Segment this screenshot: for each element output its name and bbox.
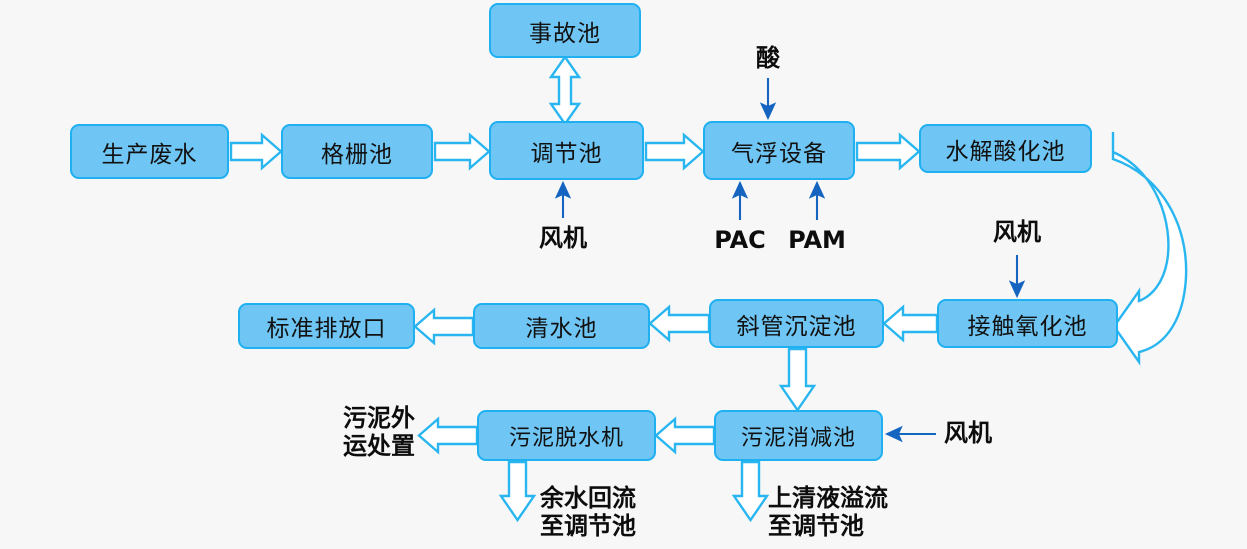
label-pac: PAC xyxy=(702,226,778,254)
label-blower-sludge-reduction: 风机 xyxy=(944,419,992,447)
node-contact-oxidation-tank[interactable]: 接触氧化池 xyxy=(937,299,1118,348)
label-residual-water-line2: 至调节池 xyxy=(540,512,636,540)
node-air-flotation-equipment[interactable]: 气浮设备 xyxy=(703,121,855,180)
edge-grille-to-regulating xyxy=(435,135,489,168)
label-acid: 酸 xyxy=(735,44,801,72)
label-blower-contact-oxidation: 风机 xyxy=(977,218,1057,246)
node-clean-water-tank[interactable]: 清水池 xyxy=(473,303,650,349)
edge-flotation-to-hydrolysis xyxy=(857,135,919,168)
node-production-wastewater[interactable]: 生产废水 xyxy=(70,124,229,179)
label-residual-water-line1: 余水回流 xyxy=(540,484,636,512)
label-sludge-offsite-line2: 运处置 xyxy=(300,432,415,460)
node-sludge-dewatering-machine[interactable]: 污泥脱水机 xyxy=(477,410,656,461)
label-sludge-offsite-line1: 污泥外 xyxy=(300,404,415,432)
label-supernatant-line1: 上清液溢流 xyxy=(768,484,888,512)
edge-production-to-grille xyxy=(231,135,281,168)
label-blower-regulating: 风机 xyxy=(523,224,603,252)
node-hydrolysis-acidification-tank[interactable]: 水解酸化池 xyxy=(919,124,1092,173)
label-residual-water-return: 余水回流 至调节池 xyxy=(540,484,636,541)
edge-accident-regulating-bidirectional xyxy=(551,57,579,124)
edge-contact-to-settling xyxy=(884,307,937,340)
edge-regulating-to-flotation xyxy=(646,135,703,168)
node-standard-discharge-outlet[interactable]: 标准排放口 xyxy=(238,303,415,349)
edge-cleanwater-to-outlet xyxy=(415,310,473,343)
edge-hydrolysis-to-contact-curve xyxy=(1113,132,1186,362)
label-sludge-offsite-disposal: 污泥外 运处置 xyxy=(300,404,415,461)
label-supernatant-line2: 至调节池 xyxy=(768,512,888,540)
connector-layer xyxy=(0,0,1247,549)
edge-settling-to-sludge-reduction xyxy=(781,349,814,410)
node-inclined-tube-settling-tank[interactable]: 斜管沉淀池 xyxy=(709,299,884,348)
node-grille-tank[interactable]: 格栅池 xyxy=(281,124,433,179)
node-accident-tank[interactable]: 事故池 xyxy=(489,3,641,58)
edge-settling-to-cleanwater xyxy=(650,307,709,340)
label-supernatant-overflow: 上清液溢流 至调节池 xyxy=(768,484,888,541)
node-regulating-tank[interactable]: 调节池 xyxy=(489,121,644,180)
edge-sludge-reduction-to-supernatant xyxy=(734,462,767,520)
edge-sludge-reduction-to-dewatering xyxy=(656,419,714,452)
process-flow-diagram: 生产废水 格栅池 事故池 调节池 气浮设备 水解酸化池 接触氧化池 斜管沉淀池 … xyxy=(0,0,1247,549)
node-sludge-reduction-tank[interactable]: 污泥消减池 xyxy=(714,410,883,461)
edge-dewatering-to-offsite xyxy=(419,419,477,452)
edge-dewatering-to-residual-water xyxy=(501,462,534,520)
label-pam: PAM xyxy=(779,226,855,254)
